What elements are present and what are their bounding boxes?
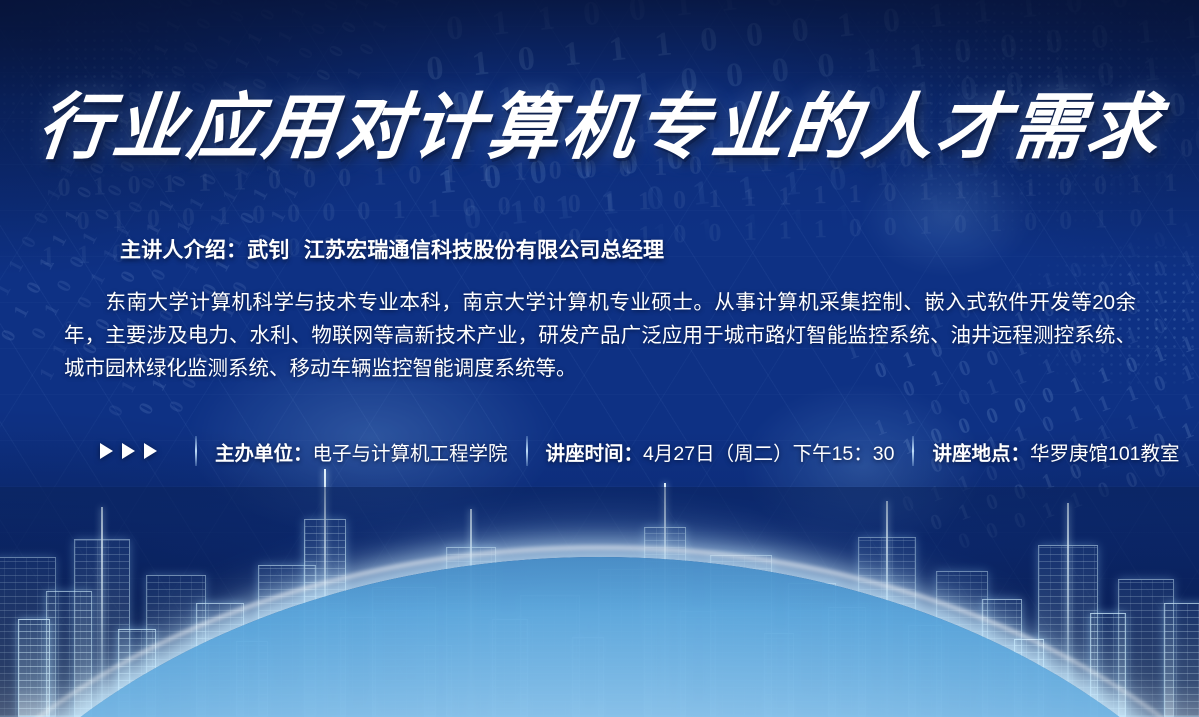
page-title: 行业应用对计算机专业的人才需求	[34, 92, 1165, 164]
info-value: 电子与计算机工程学院	[313, 437, 508, 466]
biography-text: 东南大学计算机科学与技术专业本科，南京大学计算机专业硕士。从事计算机采集控制、嵌…	[64, 291, 1136, 380]
info-divider	[912, 436, 914, 466]
info-divider	[195, 436, 197, 466]
info-divider	[526, 436, 528, 466]
info-item-time: 讲座时间： 4月27日（周二）下午15：30	[546, 437, 895, 466]
info-item-organizer: 主办单位： 电子与计算机工程学院	[215, 437, 508, 466]
event-info-bar: 主办单位： 电子与计算机工程学院 讲座时间： 4月27日（周二）下午15：30 …	[100, 436, 1180, 466]
speaker-biography: 东南大学计算机科学与技术专业本科，南京大学计算机专业硕士。从事计算机采集控制、嵌…	[64, 286, 1136, 385]
info-value: 4月27日（周二）下午15：30	[643, 437, 894, 466]
info-key: 讲座时间：	[546, 437, 644, 466]
speaker-affiliation: 江苏宏瑞通信科技股份有限公司总经理	[304, 239, 665, 262]
play-triangle-icon	[144, 443, 157, 459]
info-key: 讲座地点：	[932, 437, 1030, 466]
speaker-label: 主讲人介绍：	[120, 239, 247, 262]
info-key: 主办单位：	[215, 437, 313, 466]
speaker-name: 武钊	[247, 239, 289, 262]
poster-title-area: 行业应用对计算机专业的人才需求	[0, 92, 1199, 164]
lecture-poster: 1 0 1 1 0 0 1 1 0 1 1 0 1 0 0 1 1 1 0 1 …	[0, 0, 1199, 717]
info-value: 华罗庚馆101教室	[1030, 437, 1180, 466]
play-triangle-icon	[122, 443, 135, 459]
arrow-marker-group	[100, 443, 157, 459]
speaker-intro-line: 主讲人介绍：武钊江苏宏瑞通信科技股份有限公司总经理	[120, 234, 664, 264]
play-triangle-icon	[100, 443, 113, 459]
info-item-location: 讲座地点： 华罗庚馆101教室	[932, 437, 1179, 466]
